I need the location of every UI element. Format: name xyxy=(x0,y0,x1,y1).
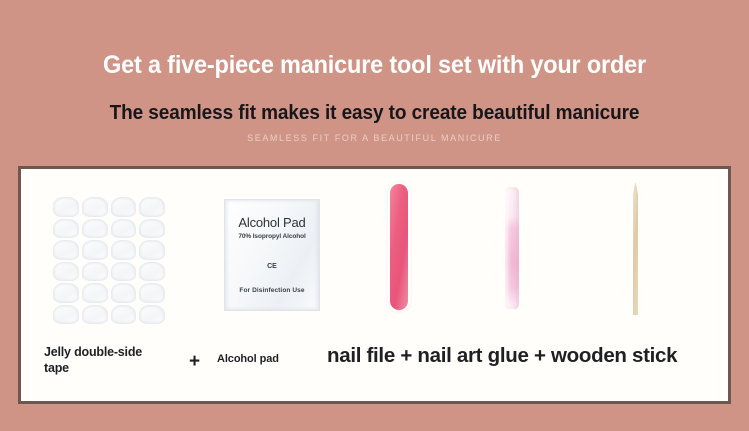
product-nail-file xyxy=(351,169,461,337)
tape-tab xyxy=(53,240,79,260)
ce-mark-icon: CE xyxy=(267,263,277,270)
headline: Get a five-piece manicure tool set with … xyxy=(22,50,726,80)
tape-tab xyxy=(53,283,79,303)
glue-tube-icon xyxy=(505,187,519,309)
microline-tagline: SEAMLESS FIT FOR A BEAUTIFUL MANICURE xyxy=(0,132,749,144)
tape-tab xyxy=(111,305,137,325)
pad-package-subtitle: 70% Isopropyl Alcohol xyxy=(238,233,305,240)
tape-tab xyxy=(82,240,108,260)
alcohol-pad-sachet-icon: Alcohol Pad 70% Isopropyl Alcohol CE For… xyxy=(224,199,320,311)
tape-tab xyxy=(82,262,108,282)
product-nail-art-glue xyxy=(461,169,571,337)
tape-tab xyxy=(82,305,108,325)
tape-tab xyxy=(111,240,137,260)
jelly-tape-sheet-icon xyxy=(53,197,165,324)
product-alcohol-pad: Alcohol Pad 70% Isopropyl Alcohol CE For… xyxy=(206,169,332,337)
tape-tab xyxy=(111,219,137,239)
nail-file-icon xyxy=(390,184,408,310)
tape-tab xyxy=(82,219,108,239)
product-captions-row: Jelly double-side tape + Alcohol pad nai… xyxy=(21,331,728,401)
product-jelly-tape xyxy=(31,169,199,337)
tape-tab xyxy=(111,262,137,282)
promo-banner: Get a five-piece manicure tool set with … xyxy=(0,0,749,431)
tape-tab xyxy=(82,283,108,303)
tape-tab xyxy=(139,262,165,282)
tape-tab xyxy=(82,197,108,217)
tape-tab xyxy=(139,305,165,325)
tape-tab xyxy=(139,219,165,239)
product-panel: Alcohol Pad 70% Isopropyl Alcohol CE For… xyxy=(18,166,731,404)
caption-alcohol-pad: Alcohol pad xyxy=(217,352,279,367)
tape-tab xyxy=(139,283,165,303)
subheadline: The seamless fit makes it easy to create… xyxy=(19,101,731,125)
tape-tab xyxy=(53,262,79,282)
caption-jelly-tape: Jelly double-side tape xyxy=(44,344,164,376)
caption-remaining-tools: nail file + nail art glue + wooden stick xyxy=(327,343,677,369)
tape-tab xyxy=(139,197,165,217)
tape-tab xyxy=(111,283,137,303)
wooden-stick-icon xyxy=(633,183,638,315)
product-wooden-stick xyxy=(581,169,701,337)
plus-separator-icon: + xyxy=(189,351,200,373)
tape-tab xyxy=(111,197,137,217)
pad-package-footer: For Disinfection Use xyxy=(239,287,304,294)
tape-tab xyxy=(53,219,79,239)
tape-tab xyxy=(53,197,79,217)
pad-package-title: Alcohol Pad xyxy=(238,215,305,230)
product-images-row: Alcohol Pad 70% Isopropyl Alcohol CE For… xyxy=(21,169,728,337)
tape-tab xyxy=(53,305,79,325)
tape-tab xyxy=(139,240,165,260)
